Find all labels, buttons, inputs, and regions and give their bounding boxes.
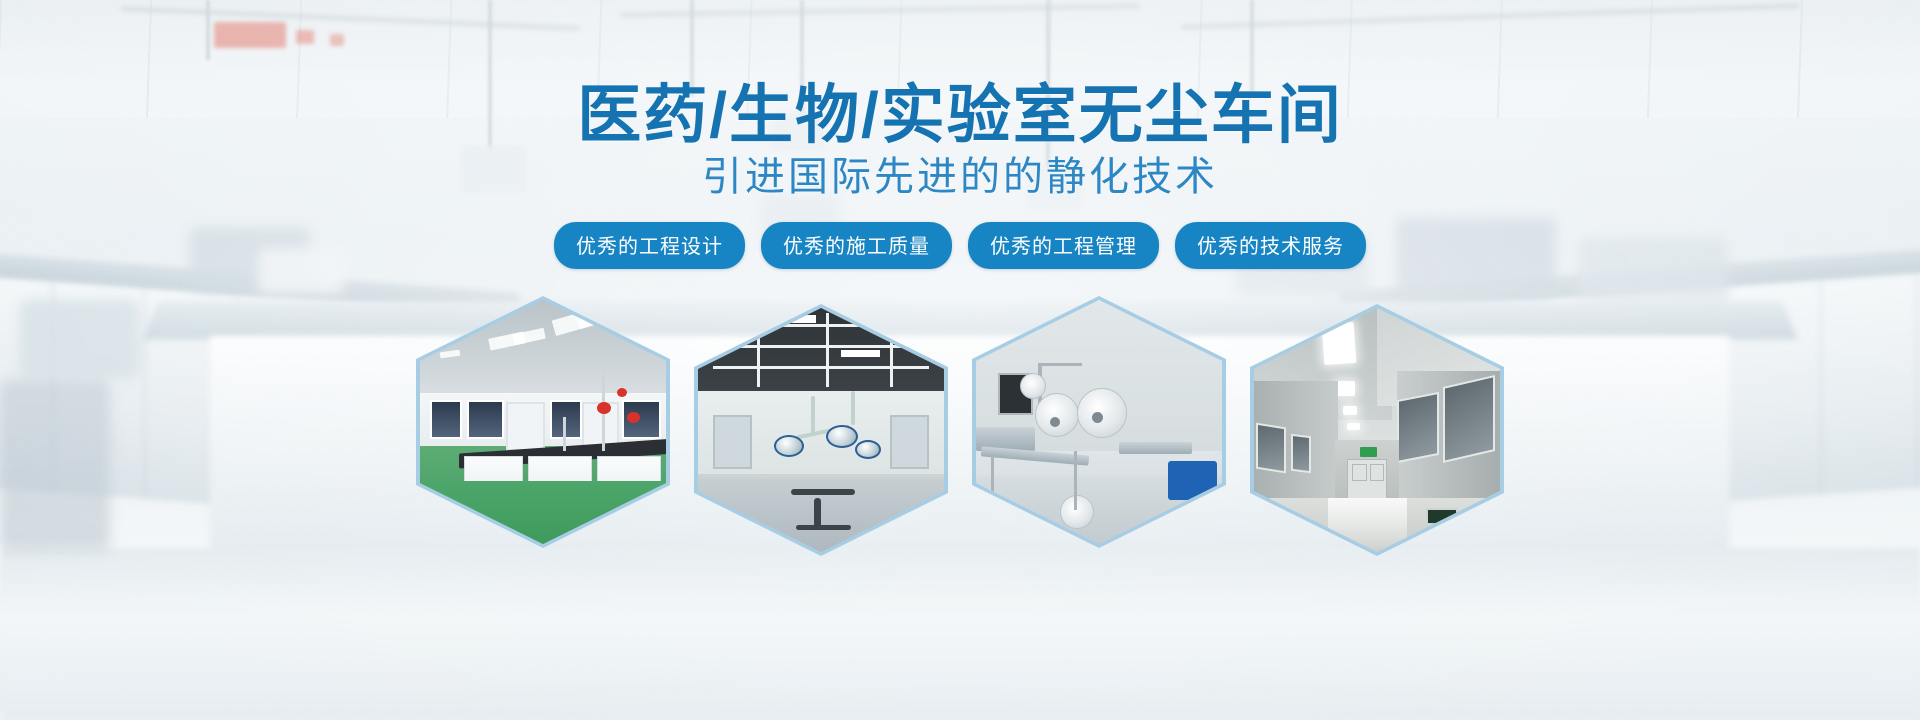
prod-roll-hub (1050, 417, 1060, 427)
corridor-door-window (1370, 464, 1385, 481)
hexagon-clip (420, 300, 666, 544)
or-door (713, 415, 752, 469)
hexagon-image-production-line[interactable] (972, 296, 1226, 548)
lab-red-valve (627, 412, 640, 423)
hexagon-image-cleanroom-corridor[interactable] (1250, 304, 1504, 556)
scene-cleanroom-corridor (1254, 308, 1500, 552)
corridor-window (1291, 434, 1311, 473)
lab-window (430, 400, 462, 439)
prod-frame (1038, 363, 1082, 366)
hexagon-clip (976, 300, 1222, 544)
hexagon-clip (1254, 308, 1500, 552)
prod-roll (1035, 393, 1079, 437)
or-operating-table (791, 489, 855, 495)
corridor-ceiling-light (1347, 423, 1359, 430)
corridor-ceiling-light (1321, 322, 1356, 366)
corridor-window (1443, 375, 1495, 463)
or-light-arm (851, 391, 855, 425)
corridor-exit-sign (1360, 447, 1377, 457)
or-surgical-lamp (855, 440, 881, 459)
lab-pole (563, 417, 566, 451)
feature-tag-engineering-design[interactable]: 优秀的工程设计 (554, 222, 745, 269)
feature-tag-construction-quality[interactable]: 优秀的施工质量 (761, 222, 952, 269)
scene-production-line (976, 300, 1222, 544)
lab-cabinet (506, 402, 545, 451)
lab-red-valve (617, 388, 627, 397)
or-surgical-lamp (826, 425, 858, 448)
lab-ceiling (420, 300, 666, 398)
feature-tag-technical-service[interactable]: 优秀的技术服务 (1175, 222, 1366, 269)
or-ceiling (698, 308, 944, 396)
or-light-arm (811, 396, 815, 435)
corridor-door-window (1352, 464, 1367, 481)
or-table-column (814, 498, 821, 527)
lab-window (467, 400, 504, 439)
banner-headline: 医药/生物/实验室无尘车间 (0, 78, 1920, 152)
scene-laboratory (420, 300, 666, 544)
corridor-window (1397, 392, 1439, 464)
or-door (890, 415, 929, 469)
banner-subheadline: 引进国际先进的的静化技术 (0, 152, 1920, 202)
feature-tag-list: 优秀的工程设计 优秀的施工质量 优秀的工程管理 优秀的技术服务 (0, 222, 1920, 269)
scene-operating-room (698, 308, 944, 552)
hexagon-gallery (0, 296, 1920, 556)
corridor-ceiling-light (1343, 406, 1358, 416)
feature-tag-project-management[interactable]: 优秀的工程管理 (968, 222, 1159, 269)
hexagon-image-laboratory[interactable] (416, 296, 670, 548)
prod-table (1119, 442, 1193, 454)
or-surgical-lamp (774, 435, 804, 457)
prod-roll-hub (1092, 412, 1103, 423)
banner-content: 医药/生物/实验室无尘车间 引进国际先进的的静化技术 优秀的工程设计 优秀的施工… (0, 0, 1920, 720)
hero-banner: 医药/生物/实验室无尘车间 引进国际先进的的静化技术 优秀的工程设计 优秀的施工… (0, 0, 1920, 720)
or-table-base (796, 525, 850, 530)
lab-green-floor (420, 481, 666, 544)
corridor-ceiling-light (1335, 381, 1355, 396)
prod-blue-bin (1168, 461, 1217, 500)
lab-window (550, 400, 582, 439)
hexagon-clip (698, 308, 944, 552)
prod-roll (1077, 388, 1127, 438)
corridor-window (1256, 423, 1286, 474)
prod-frame (1074, 451, 1077, 510)
hexagon-image-operating-room[interactable] (694, 304, 948, 556)
prod-frame (991, 456, 994, 510)
